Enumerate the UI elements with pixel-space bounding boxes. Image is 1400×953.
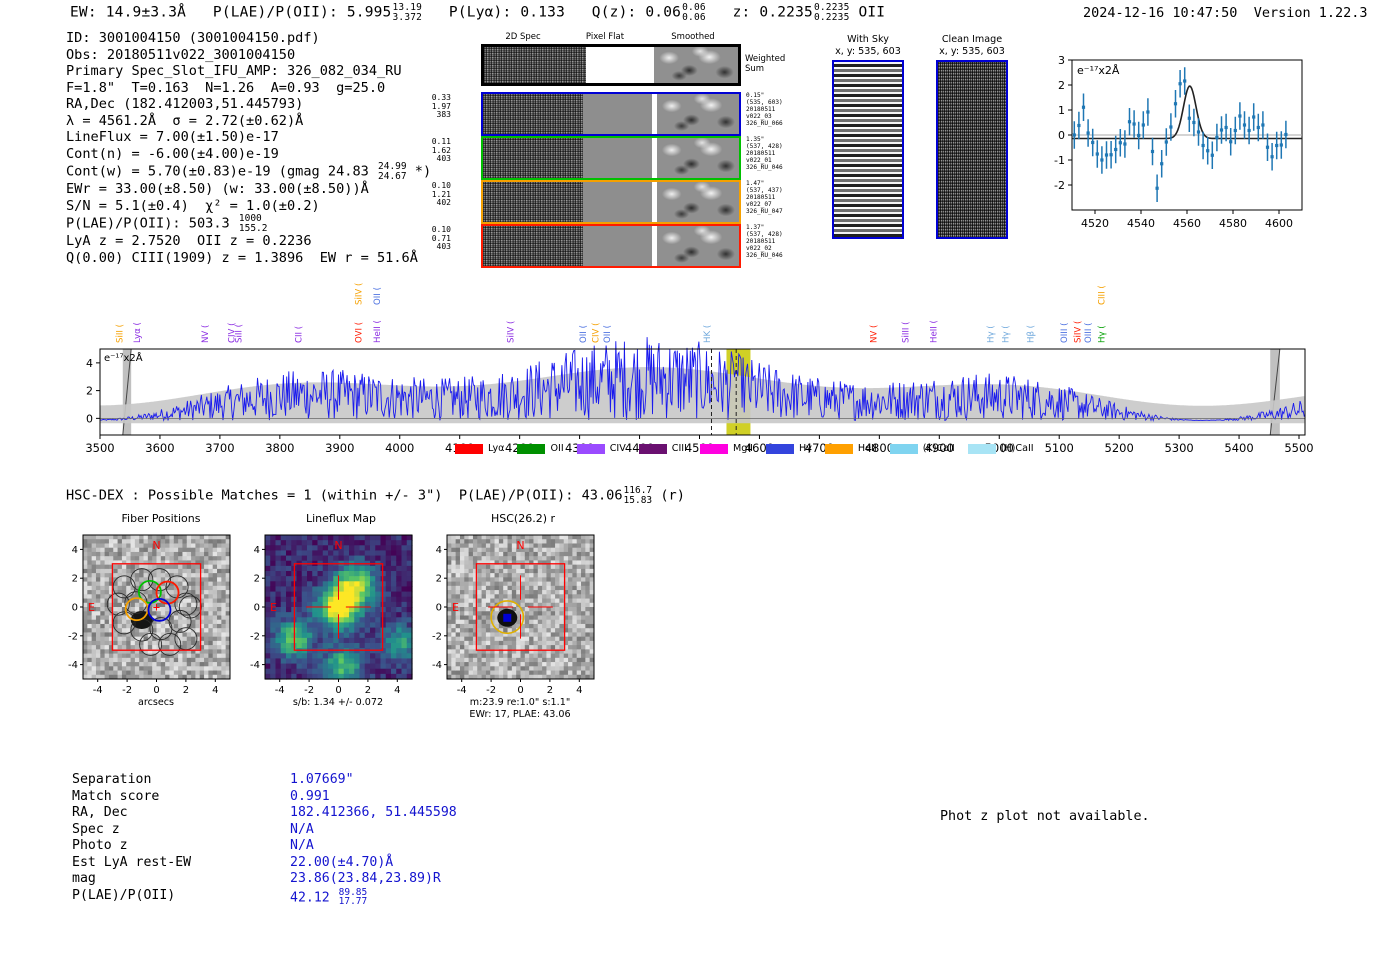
- svg-text:2: 2: [254, 574, 260, 585]
- svg-text:HeII (: HeII (: [930, 320, 940, 343]
- svg-text:e⁻¹⁷x2Å: e⁻¹⁷x2Å: [1077, 64, 1120, 77]
- svg-text:-4: -4: [250, 660, 260, 671]
- legend-item: CIV: [577, 443, 626, 454]
- svg-text:2: 2: [86, 385, 93, 398]
- svg-text:4: 4: [436, 545, 442, 556]
- legend-swatch: [639, 444, 667, 454]
- match-table-value: 1.07669": [290, 772, 354, 789]
- svg-text:0: 0: [1058, 129, 1065, 142]
- svg-text:Hγ (: Hγ (: [986, 325, 996, 343]
- legend-swatch: [517, 444, 545, 454]
- svg-text:-2: -2: [1054, 179, 1065, 192]
- svg-text:E: E: [270, 601, 277, 614]
- match-table-key: RA, Dec: [72, 805, 128, 822]
- spec2d-fiber-strip: [481, 180, 741, 224]
- legend-label: CIV: [610, 443, 626, 454]
- spec2d-weighted-sum-strip: [481, 44, 741, 86]
- match-table-value: 0.991: [290, 789, 330, 806]
- version-label: Version 1.22.3: [1254, 5, 1368, 21]
- svg-text:SiIII (: SiIII (: [901, 321, 911, 343]
- match-table-value: 23.86(23.84,23.89)R: [290, 871, 441, 888]
- svg-text:-2: -2: [68, 631, 78, 642]
- legend-item: (K)CaII: [890, 443, 955, 454]
- legend-swatch: [577, 444, 605, 454]
- timestamp-version: 2024-12-16 10:47:50 Version 1.22.3: [1083, 5, 1368, 21]
- legend-label: OII: [550, 443, 563, 454]
- timestamp: 2024-12-16 10:47:50: [1083, 5, 1237, 21]
- legend-swatch: [766, 444, 794, 454]
- match-plae-range: 89.8517.77: [339, 888, 368, 907]
- svg-text:HK (: HK (: [703, 325, 713, 343]
- svg-text:-4: -4: [68, 660, 78, 671]
- photz-unavailable-message: Phot z plot not available.: [940, 809, 1150, 824]
- match-table-value: 22.00(±4.70)Å: [290, 855, 393, 872]
- detection-info-line: Primary Spec_Slot_IFU_AMP: 326_082_034_R…: [66, 63, 431, 80]
- cutout-coords-text: x, y: 535, 603: [939, 46, 1005, 57]
- legend-label: Lyα: [488, 443, 504, 454]
- svg-text:-4: -4: [93, 685, 103, 696]
- svg-text:2: 2: [547, 685, 553, 696]
- match-table-value: 182.412366, 51.445598: [290, 805, 457, 822]
- cutout-coords-text: x, y: 535, 603: [835, 46, 901, 57]
- spec2d-row-right-labels: 1.37"(537, 428)20180511v022_02326_RU_046: [746, 224, 798, 259]
- svg-text:5200: 5200: [1105, 441, 1134, 455]
- svg-text:2: 2: [365, 685, 371, 696]
- match-table-key: Separation: [72, 772, 151, 789]
- legend-item: OII: [517, 443, 563, 454]
- svg-text:4000: 4000: [385, 441, 414, 455]
- spec2d-col-smoothed: Smoothed: [648, 32, 738, 42]
- svg-text:3: 3: [1058, 54, 1065, 67]
- caption-hsc-line2: EWr: 17, PLAE: 43.06: [430, 709, 610, 721]
- svg-text:4: 4: [86, 357, 93, 370]
- summary-qz-label: Q(z): 0.06: [592, 5, 681, 21]
- full-spectrum-svg: 0243500360037003800390040004100420043004…: [60, 275, 1360, 455]
- svg-text:-2: -2: [486, 685, 496, 696]
- svg-text:5500: 5500: [1284, 441, 1313, 455]
- hsc-headline-text: HSC-DEX : Possible Matches = 1 (within +…: [66, 488, 623, 504]
- svg-text:N: N: [516, 539, 524, 552]
- svg-text:Lyα (: Lyα (: [133, 322, 143, 343]
- legend-label: HeII: [858, 443, 877, 454]
- svg-text:e⁻¹⁷x2Å: e⁻¹⁷x2Å: [104, 351, 143, 364]
- match-table-key: Match score: [72, 789, 159, 806]
- svg-text:OII (: OII (: [373, 287, 383, 305]
- svg-text:-4: -4: [275, 685, 285, 696]
- svg-text:HeII (: HeII (: [373, 320, 383, 343]
- spec2d-row-left-labels: 0.101.21402: [425, 182, 451, 208]
- detection-info-line: P(LAE)/P(OII): 503.3 1000155.2: [66, 214, 431, 233]
- plae-range: 1000155.2: [239, 214, 268, 233]
- svg-text:OII (: OII (: [603, 325, 613, 343]
- legend-label: CIII: [672, 443, 687, 454]
- svg-text:OIII (: OIII (: [1060, 323, 1070, 343]
- svg-text:0: 0: [436, 603, 442, 614]
- hsc-headline: HSC-DEX : Possible Matches = 1 (within +…: [66, 486, 685, 505]
- legend-label: (K)CaII: [923, 443, 955, 454]
- full-spectrum-chart: 0243500360037003800390040004100420043004…: [60, 275, 1360, 455]
- legend-item: Lyα: [455, 443, 504, 454]
- svg-text:2: 2: [72, 574, 78, 585]
- spec2d-row-right-labels: 1.35"(537, 428)20180511v022_01326_RU_046: [746, 136, 798, 171]
- match-table-key: mag: [72, 871, 96, 888]
- caption-lineflux-map: s/b: 1.34 +/- 0.072: [248, 697, 428, 709]
- svg-text:0: 0: [72, 603, 78, 614]
- svg-text:4: 4: [212, 685, 218, 696]
- spec2d-row-right-labels: 0.15"(535, 603)20180511v022_03326_RU_066: [746, 92, 798, 127]
- svg-text:CIV (: CIV (: [591, 323, 601, 344]
- svg-text:3800: 3800: [265, 441, 294, 455]
- svg-text:NV (: NV (: [201, 325, 211, 343]
- svg-text:5100: 5100: [1045, 441, 1074, 455]
- svg-text:4520: 4520: [1081, 217, 1109, 230]
- svg-text:SiIV (: SiIV (: [506, 321, 516, 343]
- detection-info-line: EWr = 33.00(±8.50) (w: 33.00(±8.50))Å: [66, 181, 431, 198]
- svg-text:0: 0: [335, 685, 341, 696]
- spec2d-fiber-strip: [481, 92, 741, 136]
- svg-text:0: 0: [254, 603, 260, 614]
- summary-z-species: OII: [858, 5, 885, 21]
- panel-title-fiber-positions: Fiber Positions: [66, 512, 256, 525]
- legend-label: Hγ: [799, 443, 812, 454]
- svg-text:4: 4: [394, 685, 400, 696]
- svg-text:5400: 5400: [1224, 441, 1253, 455]
- summary-z-range: 0.22350.2235: [814, 3, 850, 22]
- svg-text:NV (: NV (: [870, 325, 880, 343]
- svg-text:4580: 4580: [1219, 217, 1247, 230]
- detection-info-line: Cont(w) = 5.70(±0.83)e-19 (gmag 24.83 24…: [66, 162, 431, 181]
- svg-text:SiII (: SiII (: [235, 324, 245, 343]
- svg-text:3700: 3700: [205, 441, 234, 455]
- match-table-key: Photo z: [72, 838, 128, 855]
- hsc-plae-range: 116.715.83: [624, 486, 653, 505]
- spec2d-row-left-labels: 0.331.97383: [425, 94, 451, 120]
- match-table-key: Est LyA rest-EW: [72, 855, 191, 872]
- detection-info-line: F=1.8" T=0.163 N=1.26 A=0.93 g=25.0: [66, 80, 431, 97]
- svg-text:2: 2: [183, 685, 189, 696]
- match-table-value: 42.12 89.8517.77: [290, 888, 367, 907]
- legend-item: CIII: [639, 443, 687, 454]
- svg-text:+: +: [153, 600, 160, 614]
- svg-text:CII (: CII (: [295, 326, 305, 343]
- svg-text:1: 1: [1058, 104, 1065, 117]
- svg-text:SiIV (: SiIV (: [355, 283, 365, 305]
- spec2d-fiber-strip: [481, 224, 741, 268]
- gmag-range: 24.9924.67: [378, 162, 407, 181]
- legend-swatch: [825, 444, 853, 454]
- svg-text:CIII (: CIII (: [1097, 285, 1107, 305]
- cutout-with-sky-image: [832, 60, 904, 239]
- svg-text:-1: -1: [1054, 154, 1065, 167]
- panel-title-hsc-r: HSC(26.2) r: [428, 512, 618, 525]
- detection-info-line: S/N = 5.1(±0.4) χ² = 1.0(±0.2): [66, 198, 431, 215]
- svg-text:4: 4: [254, 545, 260, 556]
- summary-qz-range: 0.060.06: [682, 3, 706, 22]
- spec2d-row-left-labels: 0.111.62403: [425, 138, 451, 164]
- svg-text:-2: -2: [304, 685, 314, 696]
- detection-info-line: LyA z = 2.7520 OII z = 0.2236: [66, 233, 431, 250]
- svg-text:-4: -4: [457, 685, 467, 696]
- summary-z-label: z: 0.2235: [733, 5, 813, 21]
- svg-text:3500: 3500: [85, 441, 114, 455]
- match-table-key: P(LAE)/P(OII): [72, 888, 175, 905]
- svg-text:-4: -4: [432, 660, 442, 671]
- legend-item: HeII: [825, 443, 877, 454]
- lineflux-map-panel[interactable]: -4-4-2-2002244NE: [237, 527, 427, 702]
- fiber-positions-panel[interactable]: -4-4-2-2002244NE+: [55, 527, 245, 702]
- panel-title-lineflux-map: Lineflux Map: [246, 512, 436, 525]
- svg-text:0: 0: [153, 685, 159, 696]
- cutout-clean-image: [936, 60, 1008, 239]
- match-table-value: N/A: [290, 822, 314, 839]
- line-zoom-spectrum-svg: -2-1012345204540456045804600e⁻¹⁷x2Å: [1032, 52, 1307, 247]
- spectrum-legend: LyαOIICIVCIIIMgIIHγHeII(K)CaII(H)CaII: [455, 443, 1047, 454]
- detection-info-line: LineFlux = 7.00(±1.50)e-17: [66, 129, 431, 146]
- summary-ew-label: EW: 14.9±3.3Å: [70, 5, 186, 21]
- detection-info-line: ID: 3001004150 (3001004150.pdf): [66, 30, 431, 47]
- svg-text:-2: -2: [250, 631, 260, 642]
- detection-info-line: Q(0.00) CIII(1909) z = 1.3896 EW r = 51.…: [66, 250, 431, 267]
- legend-label: (H)CaII: [1001, 443, 1034, 454]
- svg-text:OVI (: OVI (: [355, 322, 365, 343]
- svg-text:E: E: [88, 601, 95, 614]
- legend-swatch: [455, 444, 483, 454]
- svg-text:-2: -2: [432, 631, 442, 642]
- svg-text:Hγ (: Hγ (: [1097, 325, 1107, 343]
- caption-fiber-positions: arcsecs: [66, 697, 246, 709]
- hsc-image-panel[interactable]: -4-4-2-2002244NE: [419, 527, 609, 702]
- detection-info-line: Cont(n) = -6.00(±4.00)e-19: [66, 146, 431, 163]
- hsc-plae-band: (r): [660, 488, 685, 504]
- cutout-title-with-sky: With Sky x, y: 535, 603: [823, 34, 913, 57]
- svg-text:SiII (: SiII (: [115, 324, 125, 343]
- cutout-title-text: With Sky: [847, 34, 889, 45]
- svg-text:-2: -2: [122, 685, 132, 696]
- spec2d-col-2dspec: 2D Spec: [483, 32, 563, 42]
- svg-text:3900: 3900: [325, 441, 354, 455]
- legend-label: MgII: [733, 443, 753, 454]
- detection-info-block: ID: 3001004150 (3001004150.pdf)Obs: 2018…: [66, 30, 431, 267]
- summary-header: EW: 14.9±3.3Å P(LAE)/P(OII): 5.99513.193…: [70, 3, 885, 22]
- svg-text:E: E: [452, 601, 459, 614]
- svg-text:Hβ (: Hβ (: [1027, 325, 1037, 343]
- detection-info-line: λ = 4561.2Å σ = 2.72(±0.62)Å: [66, 113, 431, 130]
- svg-text:SiIV (: SiIV (: [1073, 321, 1083, 343]
- caption-hsc-line1: m:23.9 re:1.0" s:1.1": [430, 697, 610, 709]
- legend-swatch: [700, 444, 728, 454]
- legend-item: Hγ: [766, 443, 812, 454]
- svg-text:3600: 3600: [145, 441, 174, 455]
- svg-text:0: 0: [86, 412, 93, 425]
- summary-plya-label: P(Lyα): 0.133: [449, 5, 565, 21]
- svg-text:4600: 4600: [1265, 217, 1293, 230]
- legend-item: MgII: [700, 443, 753, 454]
- spec2d-row-left-labels: 0.100.71403: [425, 226, 451, 252]
- spec2d-panel: 2D Spec Pixel Flat Smoothed WeightedSum …: [455, 32, 800, 260]
- spec2d-fiber-strip: [481, 136, 741, 180]
- cutout-title-text: Clean Image: [942, 34, 1002, 45]
- svg-text:Hγ (: Hγ (: [1001, 325, 1011, 343]
- legend-item: (H)CaII: [968, 443, 1034, 454]
- svg-text:4: 4: [72, 545, 78, 556]
- svg-text:4540: 4540: [1127, 217, 1155, 230]
- svg-text:N: N: [334, 539, 342, 552]
- svg-text:N: N: [152, 539, 160, 552]
- cutout-title-clean: Clean Image x, y: 535, 603: [922, 34, 1022, 57]
- svg-text:2: 2: [1058, 79, 1065, 92]
- summary-plae-label: P(LAE)/P(OII): 5.995: [213, 5, 392, 21]
- svg-text:2: 2: [436, 574, 442, 585]
- line-zoom-spectrum-chart: -2-1012345204540456045804600e⁻¹⁷x2Å: [1032, 52, 1307, 247]
- svg-text:4560: 4560: [1173, 217, 1201, 230]
- svg-text:0: 0: [517, 685, 523, 696]
- detection-info-line: Obs: 20180511v022_3001004150: [66, 47, 431, 64]
- match-table-key: Spec z: [72, 822, 120, 839]
- detection-info-line: RA,Dec (182.412003,51.445793): [66, 96, 431, 113]
- spec2d-weighted-sum-label: WeightedSum: [745, 54, 795, 74]
- svg-text:4: 4: [576, 685, 582, 696]
- legend-swatch: [968, 444, 996, 454]
- match-table-value: N/A: [290, 838, 314, 855]
- spec2d-col-pixelflat: Pixel Flat: [565, 32, 645, 42]
- spec2d-row-right-labels: 1.47"(537, 437)20180511v022_07326_RU_047: [746, 180, 798, 215]
- svg-text:5300: 5300: [1164, 441, 1193, 455]
- summary-plae-range: 13.193.372: [393, 3, 423, 22]
- svg-text:OIII (: OIII (: [1084, 323, 1094, 343]
- svg-text:OII (: OII (: [579, 325, 589, 343]
- legend-swatch: [890, 444, 918, 454]
